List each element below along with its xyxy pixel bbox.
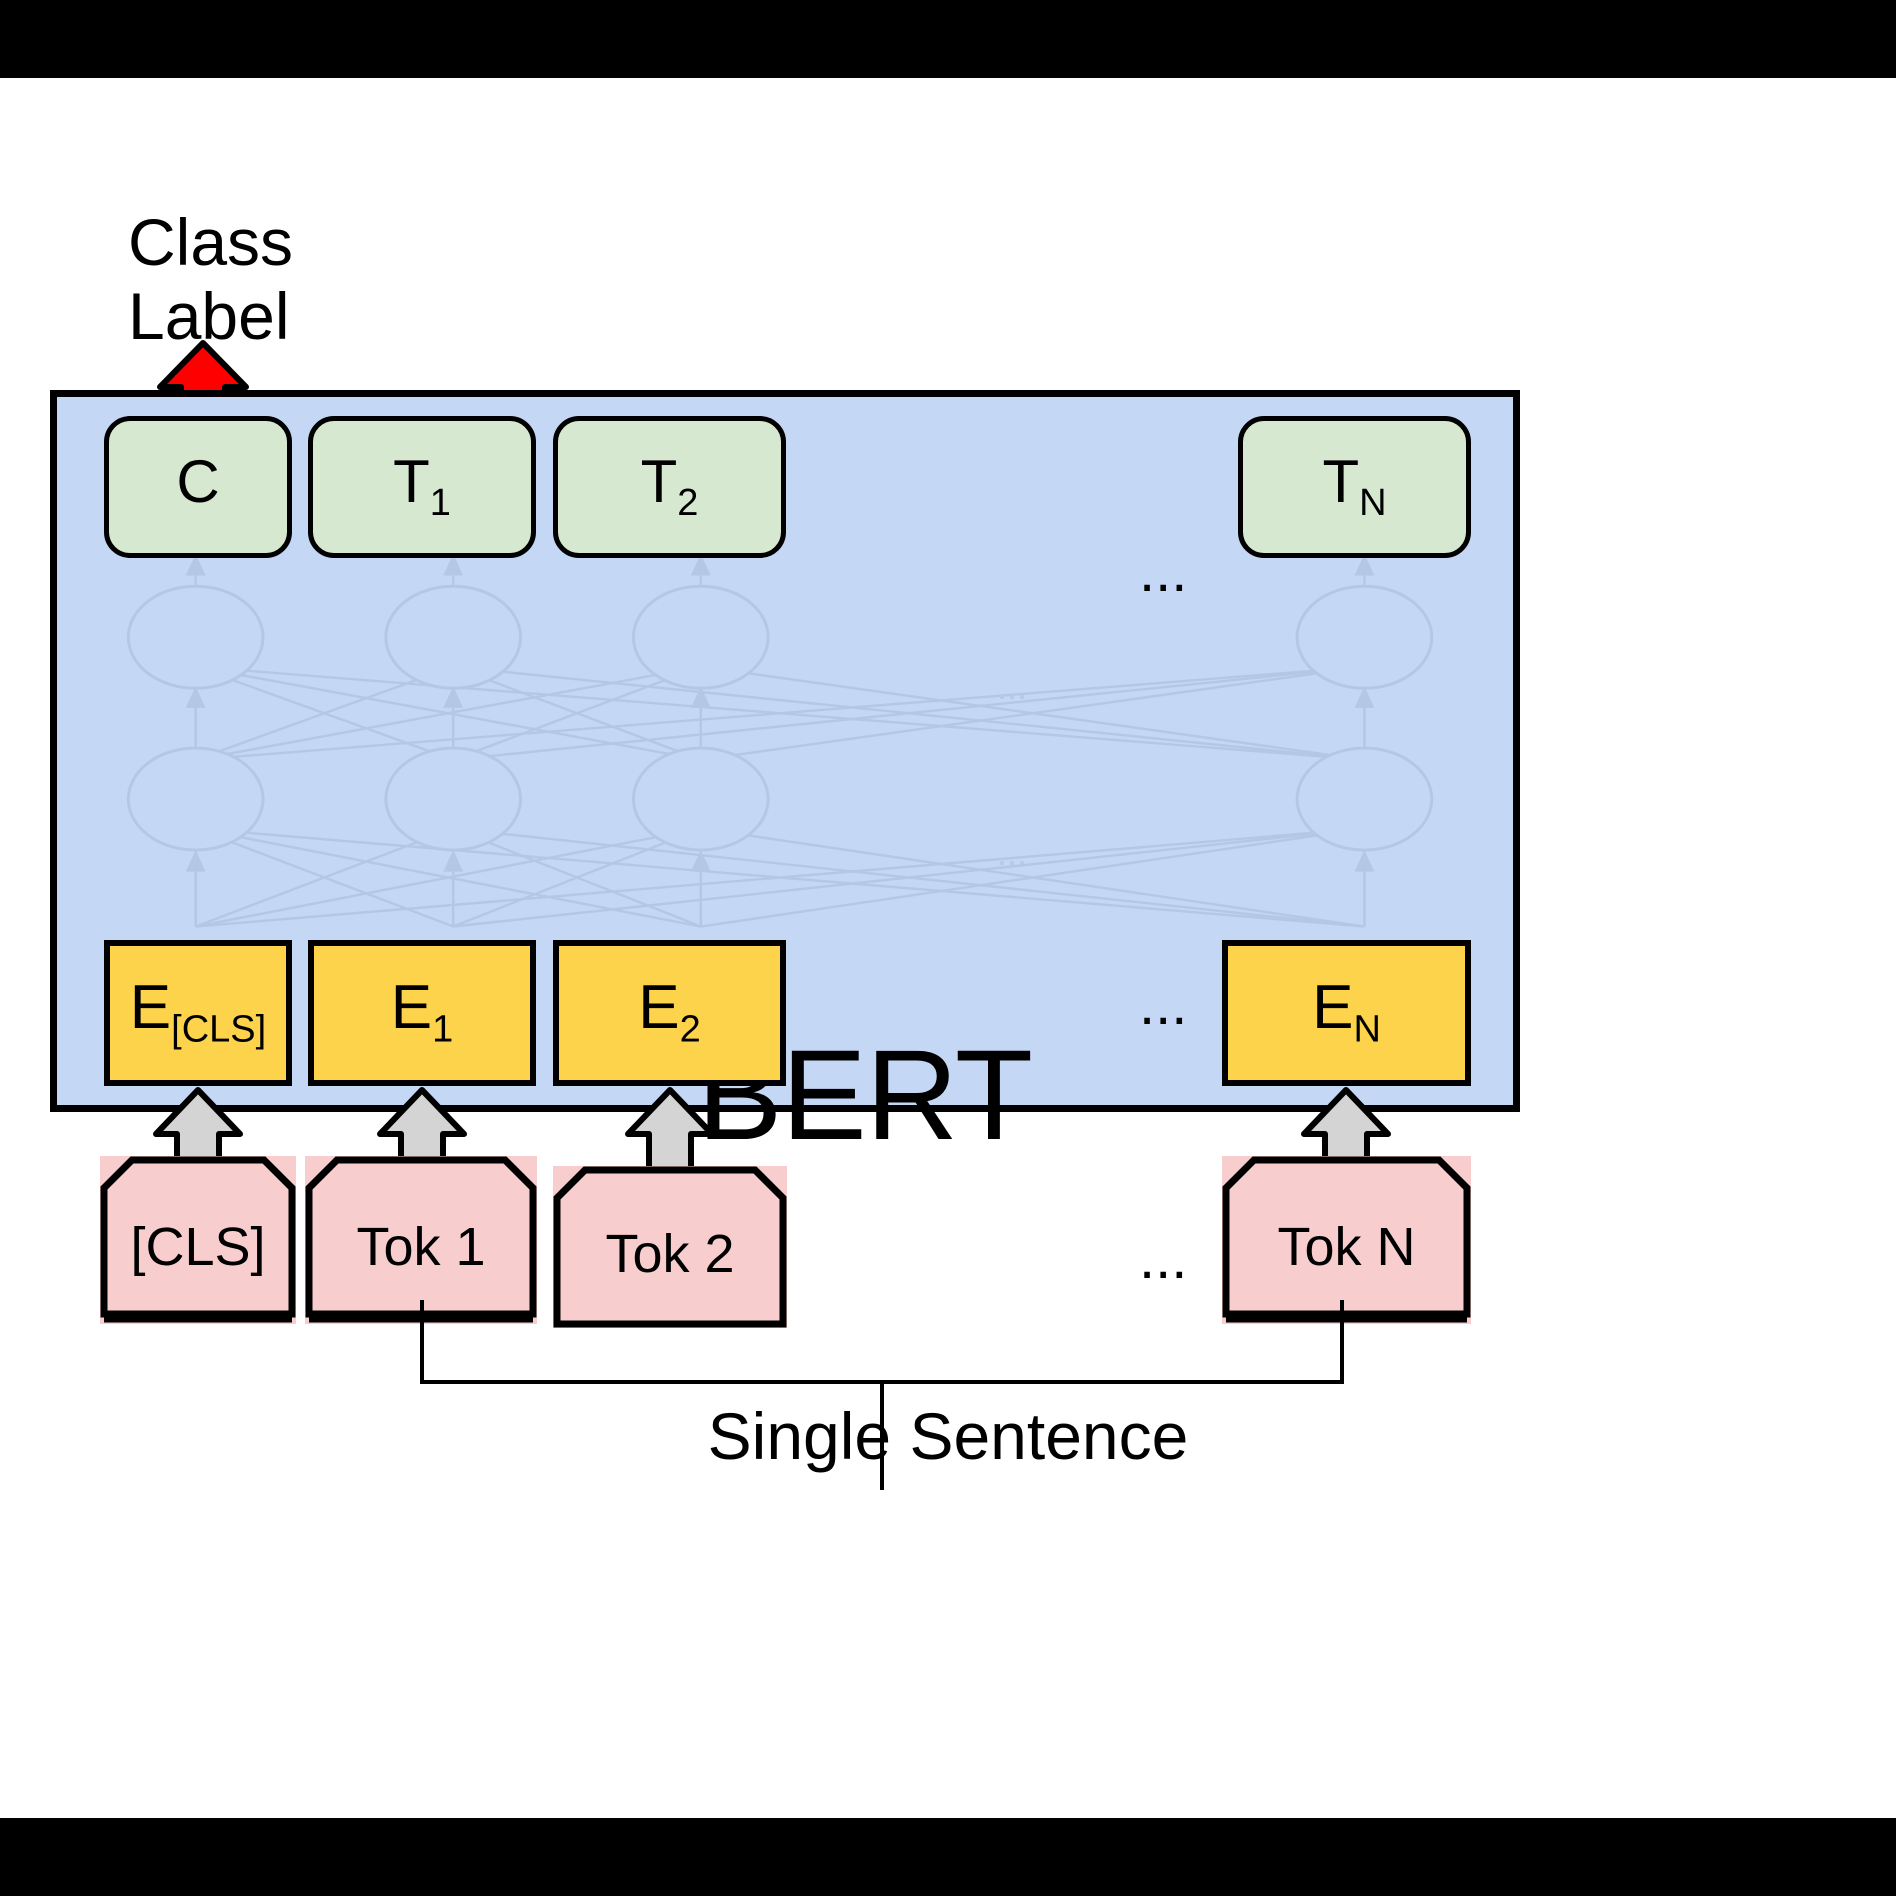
output-box-c[interactable]: C (104, 416, 292, 558)
token-box-cls[interactable]: [CLS] (100, 1156, 296, 1324)
token-row-ellipsis: ... (1139, 1230, 1187, 1288)
embedding-box-en[interactable]: EN (1222, 940, 1471, 1086)
embedding-row-ellipsis: ... (1139, 976, 1187, 1034)
output-row-ellipsis: ... (1139, 543, 1187, 601)
embedding-box-e2[interactable]: E2 (553, 940, 786, 1086)
embedding-box-e1[interactable]: E1 (308, 940, 536, 1086)
embedding-box-cls-label: E[CLS] (130, 977, 266, 1048)
output-box-tn[interactable]: TN (1238, 416, 1471, 558)
embedding-box-cls[interactable]: E[CLS] (104, 940, 292, 1086)
token-box-tok1-label: Tok 1 (356, 1216, 485, 1278)
output-box-t2-label: T2 (641, 452, 699, 522)
single-sentence-caption: Single Sentence (0, 1398, 1896, 1474)
net-ellipsis-upper: ... (997, 669, 1027, 705)
output-box-t1[interactable]: T1 (308, 416, 536, 558)
output-box-t2[interactable]: T2 (553, 416, 786, 558)
embedding-box-en-label: EN (1312, 977, 1381, 1048)
diagram-page: Class Label (0, 78, 1896, 1818)
embedding-box-e1-label: E1 (391, 977, 454, 1048)
token-box-cls-label: [CLS] (130, 1216, 265, 1278)
token-box-tokn-label: Tok N (1277, 1216, 1415, 1278)
token-box-tok1[interactable]: Tok 1 (305, 1156, 537, 1324)
class-label-text: Class Label (128, 206, 408, 354)
output-box-t1-label: T1 (393, 452, 451, 522)
token-box-tokn[interactable]: Tok N (1222, 1156, 1471, 1324)
embedding-box-e2-label: E2 (638, 977, 701, 1048)
net-ellipsis-lower: ... (997, 835, 1027, 871)
output-box-tn-label: TN (1322, 452, 1386, 522)
output-box-c-label: C (176, 452, 219, 522)
input-arrow-tok2-icon (624, 1086, 716, 1174)
diagram-canvas: Class Label (0, 0, 1896, 1896)
token-box-tok2-label: Tok 2 (605, 1223, 734, 1285)
